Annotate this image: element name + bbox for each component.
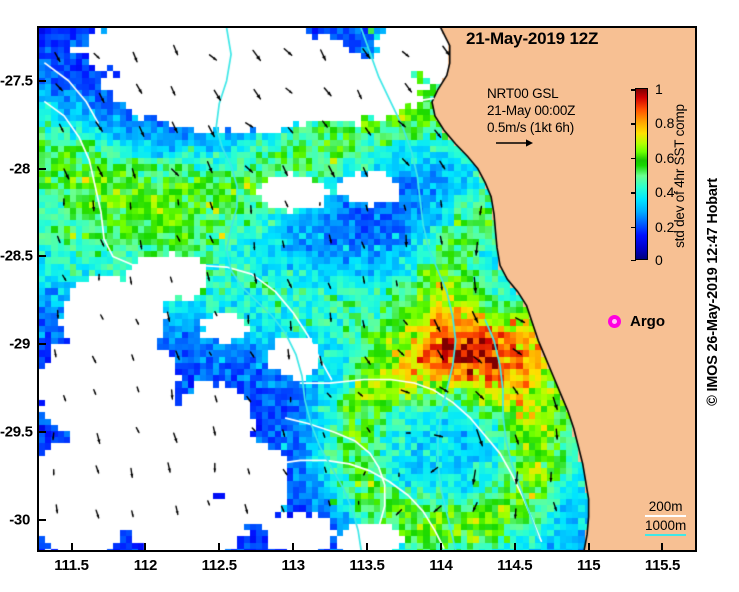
bathymetry-legend: 200m 1000m: [645, 500, 686, 538]
x-axis-tick: [588, 543, 590, 550]
source-annotation: NRT00 GSL 21-May 00:00Z 0.5m/s (1kt 6h): [487, 85, 575, 136]
bathy-200m-line: [645, 515, 686, 517]
y-axis-tick: [39, 519, 46, 521]
sst-stddev-heatmap: [39, 28, 695, 550]
y-axis-tick: [39, 343, 46, 345]
x-axis-tick: [440, 543, 442, 550]
x-axis-label: 114.5: [497, 557, 532, 574]
argo-legend: Argo: [608, 313, 665, 330]
map-plot-area: [37, 26, 697, 552]
colorbar-title: std dev of 4hr SST comp: [672, 90, 687, 262]
source-line-1: NRT00 GSL: [487, 85, 575, 102]
colorbar-gradient: 1 0.8 0.6 0.4 0.2 0: [635, 88, 648, 260]
y-axis-label: -29.5: [0, 424, 30, 441]
x-axis-tick: [144, 543, 146, 550]
colorbar-tick-0: 0: [655, 252, 663, 268]
bathy-1000m-line: [645, 534, 686, 536]
y-axis-label: -28: [0, 160, 30, 177]
x-axis-tick: [292, 543, 294, 550]
y-axis-tick: [39, 80, 46, 82]
y-axis-label: -29: [0, 336, 30, 353]
y-axis-label: -27.5: [0, 72, 30, 89]
x-axis-label: 115: [577, 557, 600, 574]
x-axis-label: 112.5: [202, 557, 237, 574]
x-axis-tick: [514, 543, 516, 550]
x-axis-tick: [661, 543, 663, 550]
bathy-1000m-label: 1000m: [645, 519, 686, 533]
colorbar-tick-1: 1: [655, 81, 663, 97]
x-axis-tick: [71, 543, 73, 550]
x-axis-label: 111.5: [54, 557, 88, 574]
y-axis-label: -28.5: [0, 248, 30, 265]
bathy-200m-label: 200m: [645, 500, 686, 514]
argo-legend-label: Argo: [630, 313, 665, 330]
reference-vector-arrow-icon: [495, 138, 533, 148]
y-axis-tick: [39, 431, 46, 433]
argo-marker-icon: [608, 315, 621, 328]
x-axis-label: 113: [281, 557, 304, 574]
source-line-2: 21-May 00:00Z: [487, 102, 575, 119]
x-axis-label: 113.5: [349, 557, 384, 574]
x-axis-label: 112: [134, 557, 157, 574]
page-title: 21-May-2019 12Z: [466, 29, 598, 49]
x-axis-tick: [366, 543, 368, 550]
source-line-3: 0.5m/s (1kt 6h): [487, 119, 575, 136]
x-axis-label: 115.5: [645, 557, 680, 574]
x-axis-tick: [218, 543, 220, 550]
y-axis-tick: [39, 255, 46, 257]
y-axis-label: -30: [0, 512, 30, 529]
colorbar: 1 0.8 0.6 0.4 0.2 0: [635, 88, 648, 260]
copyright-credit: © IMOS 26-May-2019 12:47 Hobart: [705, 178, 721, 406]
x-axis-label: 114: [429, 557, 452, 574]
figure-root: 21-May-2019 12Z NRT00 GSL 21-May 00:00Z …: [0, 0, 739, 592]
y-axis-tick: [39, 168, 46, 170]
